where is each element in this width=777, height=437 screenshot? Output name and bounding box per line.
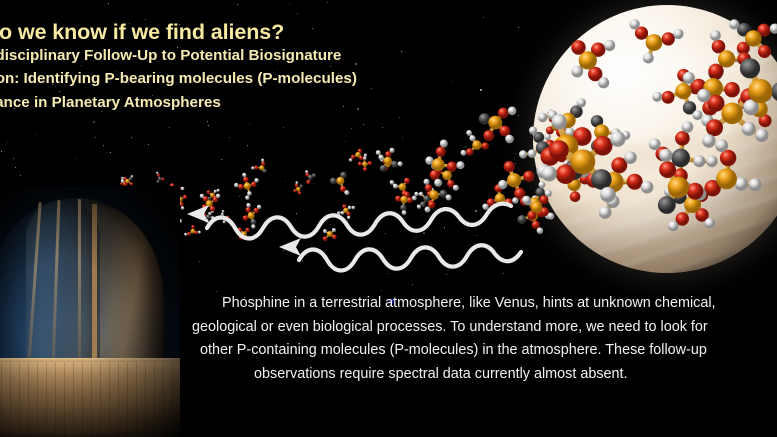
- atom-o: [383, 160, 387, 164]
- atom-o: [243, 177, 249, 183]
- atom-h: [234, 183, 238, 187]
- dome-vignette: [0, 186, 180, 437]
- bond: [434, 166, 438, 171]
- atom-o: [435, 167, 443, 175]
- bond: [484, 119, 495, 123]
- star: [502, 116, 504, 118]
- bond: [523, 154, 532, 155]
- bond: [353, 155, 358, 157]
- atom-h: [121, 179, 125, 183]
- atom-o: [498, 108, 509, 119]
- atom-p: [488, 116, 502, 130]
- bond: [121, 182, 123, 184]
- bond: [392, 182, 396, 186]
- atom-h: [380, 159, 383, 162]
- atom-h: [390, 148, 395, 153]
- observatory-dome: [0, 186, 180, 437]
- atom-o: [404, 178, 410, 184]
- atom-h: [461, 150, 467, 156]
- bond: [495, 113, 503, 123]
- atom-o: [305, 173, 309, 177]
- star: [229, 137, 230, 138]
- bond: [123, 181, 125, 184]
- atom-h: [363, 156, 366, 159]
- atom-c: [129, 177, 133, 181]
- star: [249, 124, 250, 125]
- atom-c: [330, 178, 337, 185]
- bond: [241, 186, 247, 187]
- star: [402, 137, 403, 138]
- atom-h: [242, 173, 246, 177]
- atom-h: [261, 159, 264, 162]
- bond: [386, 165, 388, 169]
- venus-cloud-band: [533, 104, 777, 198]
- subtitle-line-2: ction: Identifying P-bearing molecules (…: [0, 67, 470, 91]
- atom-o: [448, 165, 456, 173]
- atom-p: [386, 162, 391, 167]
- bond: [311, 176, 315, 178]
- bond: [263, 160, 264, 163]
- bond: [388, 161, 395, 164]
- atom-o: [447, 180, 455, 188]
- bond: [473, 138, 477, 145]
- venus-cloud-band: [533, 12, 777, 131]
- star: [75, 158, 76, 159]
- bond: [364, 158, 365, 164]
- atom-h: [305, 170, 308, 173]
- bond: [388, 150, 392, 154]
- atom-h: [508, 107, 517, 116]
- bond: [452, 165, 461, 166]
- bond: [308, 177, 310, 182]
- bond: [340, 175, 343, 181]
- bond: [127, 181, 131, 184]
- bond: [236, 185, 241, 187]
- bond: [365, 163, 370, 164]
- star: [148, 144, 149, 145]
- bond: [307, 172, 308, 175]
- bond: [244, 175, 246, 180]
- star: [289, 4, 290, 5]
- atom-o: [447, 161, 457, 171]
- star: [285, 181, 286, 182]
- star: [515, 153, 516, 154]
- atom-h: [181, 187, 185, 191]
- atom-p: [259, 165, 264, 170]
- star: [515, 163, 516, 164]
- atom-o: [120, 183, 122, 185]
- star: [313, 183, 314, 184]
- bond: [358, 155, 361, 158]
- atom-o: [351, 155, 355, 159]
- bond: [402, 181, 407, 187]
- atom-h: [425, 156, 433, 164]
- bond: [122, 179, 123, 181]
- atom-h: [390, 180, 395, 185]
- atom-o: [436, 147, 446, 157]
- atom-h: [469, 135, 475, 141]
- atom-c: [380, 165, 387, 172]
- atom-o: [261, 162, 265, 166]
- star: [478, 145, 479, 146]
- bond: [477, 145, 485, 146]
- bond: [123, 182, 125, 183]
- atom-h: [398, 161, 403, 166]
- bond: [438, 171, 447, 175]
- bond: [262, 164, 263, 168]
- atom-o: [157, 174, 160, 177]
- caption-line-2: geological or even biological processes.…: [192, 316, 777, 340]
- bond: [381, 157, 388, 161]
- atom-o: [430, 170, 440, 180]
- atom-p: [472, 140, 481, 149]
- caption-line-4: observations require spectral data curre…: [254, 363, 777, 387]
- star: [237, 4, 238, 5]
- star: [297, 13, 298, 14]
- atom-p: [125, 179, 129, 183]
- bond: [395, 186, 402, 187]
- title-block: do we know if we find aliens? terdiscipl…: [0, 22, 470, 115]
- caption-line-1: Phosphine in a terrestrial atmosphere, l…: [222, 292, 777, 316]
- atom-h: [349, 158, 352, 161]
- atom-c: [391, 161, 398, 168]
- atom-p: [507, 173, 521, 187]
- bond: [470, 145, 477, 152]
- atom-o: [384, 167, 388, 171]
- star: [345, 141, 346, 142]
- star: [351, 128, 352, 129]
- atom-o: [385, 151, 391, 157]
- atom-o: [124, 181, 126, 183]
- star: [283, 127, 284, 128]
- bond: [364, 155, 365, 158]
- atom-h: [254, 178, 258, 182]
- atom-h: [295, 181, 298, 184]
- atom-h: [434, 179, 442, 187]
- figure-canvas: do we know if we find aliens? terdiscipl…: [0, 0, 777, 437]
- star: [169, 127, 170, 128]
- venus-cloud-band: [533, 157, 777, 271]
- star: [207, 121, 208, 122]
- subtitle-line-1: terdisciplinary Follow-Up to Potential B…: [0, 44, 470, 68]
- bond: [127, 179, 130, 181]
- bond: [182, 204, 183, 208]
- bond: [254, 180, 257, 184]
- star: [110, 152, 111, 153]
- bond: [392, 164, 395, 166]
- bond: [495, 123, 505, 131]
- bond: [447, 175, 451, 183]
- bond: [514, 176, 529, 180]
- bond: [388, 164, 392, 165]
- star: [7, 142, 8, 143]
- star: [95, 137, 96, 138]
- atom-h: [378, 155, 383, 160]
- bond: [378, 153, 381, 158]
- bond: [503, 111, 512, 113]
- bond: [122, 178, 125, 179]
- atom-p: [442, 171, 452, 181]
- atom-o: [295, 184, 298, 187]
- bond: [503, 180, 514, 184]
- atom-h: [456, 161, 464, 169]
- star: [518, 27, 519, 28]
- bond: [157, 173, 158, 175]
- page-title: do we know if we find aliens?: [0, 22, 470, 44]
- atom-h: [131, 175, 134, 178]
- atom-c: [158, 177, 162, 181]
- bond: [262, 168, 265, 171]
- star: [20, 175, 21, 176]
- atom-h: [181, 206, 184, 209]
- atom-p: [432, 158, 445, 171]
- atom-o: [362, 156, 366, 160]
- atom-p: [121, 180, 124, 183]
- star: [93, 121, 95, 123]
- atom-h: [424, 179, 430, 185]
- bond: [430, 161, 439, 165]
- star: [363, 124, 364, 125]
- star: [483, 17, 484, 18]
- bond: [469, 133, 472, 138]
- atom-o: [363, 167, 367, 171]
- star: [399, 117, 400, 118]
- atom-p: [384, 157, 392, 165]
- star: [131, 137, 132, 138]
- atom-h: [364, 154, 367, 157]
- star: [518, 115, 519, 116]
- atom-o: [390, 162, 394, 166]
- bond: [358, 151, 360, 155]
- bond: [130, 176, 132, 179]
- bond: [441, 144, 444, 152]
- atom-o: [306, 180, 310, 184]
- atom-h: [519, 150, 527, 158]
- venus-planet: [533, 5, 777, 273]
- atom-h: [156, 172, 158, 174]
- signal-waves: [185, 188, 530, 293]
- star: [15, 167, 16, 168]
- star: [208, 125, 209, 126]
- star: [103, 145, 104, 146]
- atom-o: [358, 149, 362, 153]
- atom-h: [394, 164, 397, 167]
- bond: [427, 182, 429, 188]
- caption-block: Phosphine in a terrestrial atmosphere, l…: [222, 292, 777, 387]
- bond: [307, 175, 310, 178]
- atom-o: [504, 161, 515, 172]
- bond: [438, 165, 452, 167]
- star: [480, 89, 482, 91]
- star: [13, 158, 14, 159]
- atom-o: [499, 126, 510, 137]
- subtitle-line-3: levance in Planetary Atmospheres: [0, 91, 470, 115]
- bond: [158, 179, 160, 182]
- star: [247, 145, 248, 146]
- bond: [383, 161, 388, 168]
- atom-c: [312, 173, 316, 177]
- bond: [435, 175, 438, 183]
- bond: [382, 160, 385, 162]
- bond: [438, 152, 441, 165]
- star: [465, 146, 466, 147]
- atom-c: [479, 113, 490, 124]
- caption-line-3: other P-containing molecules (P-molecule…: [200, 339, 777, 363]
- atom-c: [156, 180, 159, 183]
- bond: [447, 168, 452, 175]
- star: [36, 134, 37, 135]
- atom-c: [308, 175, 313, 180]
- atom-p: [362, 162, 367, 167]
- venus-sphere: [533, 5, 777, 273]
- bond: [351, 157, 353, 160]
- atom-c: [263, 169, 267, 173]
- bond: [505, 131, 510, 139]
- star: [108, 3, 109, 4]
- atom-h: [440, 140, 448, 148]
- bond: [509, 167, 514, 181]
- atom-o: [162, 178, 165, 181]
- atom-c: [340, 172, 347, 179]
- venus-terminator: [533, 5, 777, 273]
- atom-o: [359, 156, 363, 160]
- bond: [435, 165, 439, 175]
- atom-o: [124, 177, 127, 180]
- bond: [463, 152, 469, 153]
- atom-o: [466, 148, 473, 155]
- star: [382, 127, 383, 128]
- bond: [246, 180, 248, 187]
- star: [487, 114, 488, 115]
- atom-h: [121, 178, 123, 180]
- atom-p: [355, 152, 361, 158]
- bond: [125, 179, 127, 182]
- bond: [126, 181, 128, 184]
- bond: [180, 199, 182, 204]
- atom-p: [336, 177, 344, 185]
- bond: [158, 175, 159, 179]
- star: [221, 159, 222, 160]
- atom-h: [466, 130, 472, 136]
- bond: [247, 184, 254, 186]
- bond: [489, 123, 496, 136]
- star: [327, 2, 328, 3]
- atom-h: [121, 177, 124, 180]
- atom-o: [482, 142, 489, 149]
- atom-o: [483, 130, 494, 141]
- atom-o: [358, 162, 362, 166]
- bond: [388, 154, 389, 161]
- atom-h: [505, 135, 514, 144]
- star: [1, 151, 2, 152]
- atom-h: [431, 163, 437, 169]
- atom-h: [251, 166, 254, 169]
- atom-h: [376, 150, 381, 155]
- atom-o: [254, 166, 258, 170]
- bond: [385, 162, 388, 165]
- atom-o: [368, 161, 372, 165]
- atom-o: [251, 182, 257, 188]
